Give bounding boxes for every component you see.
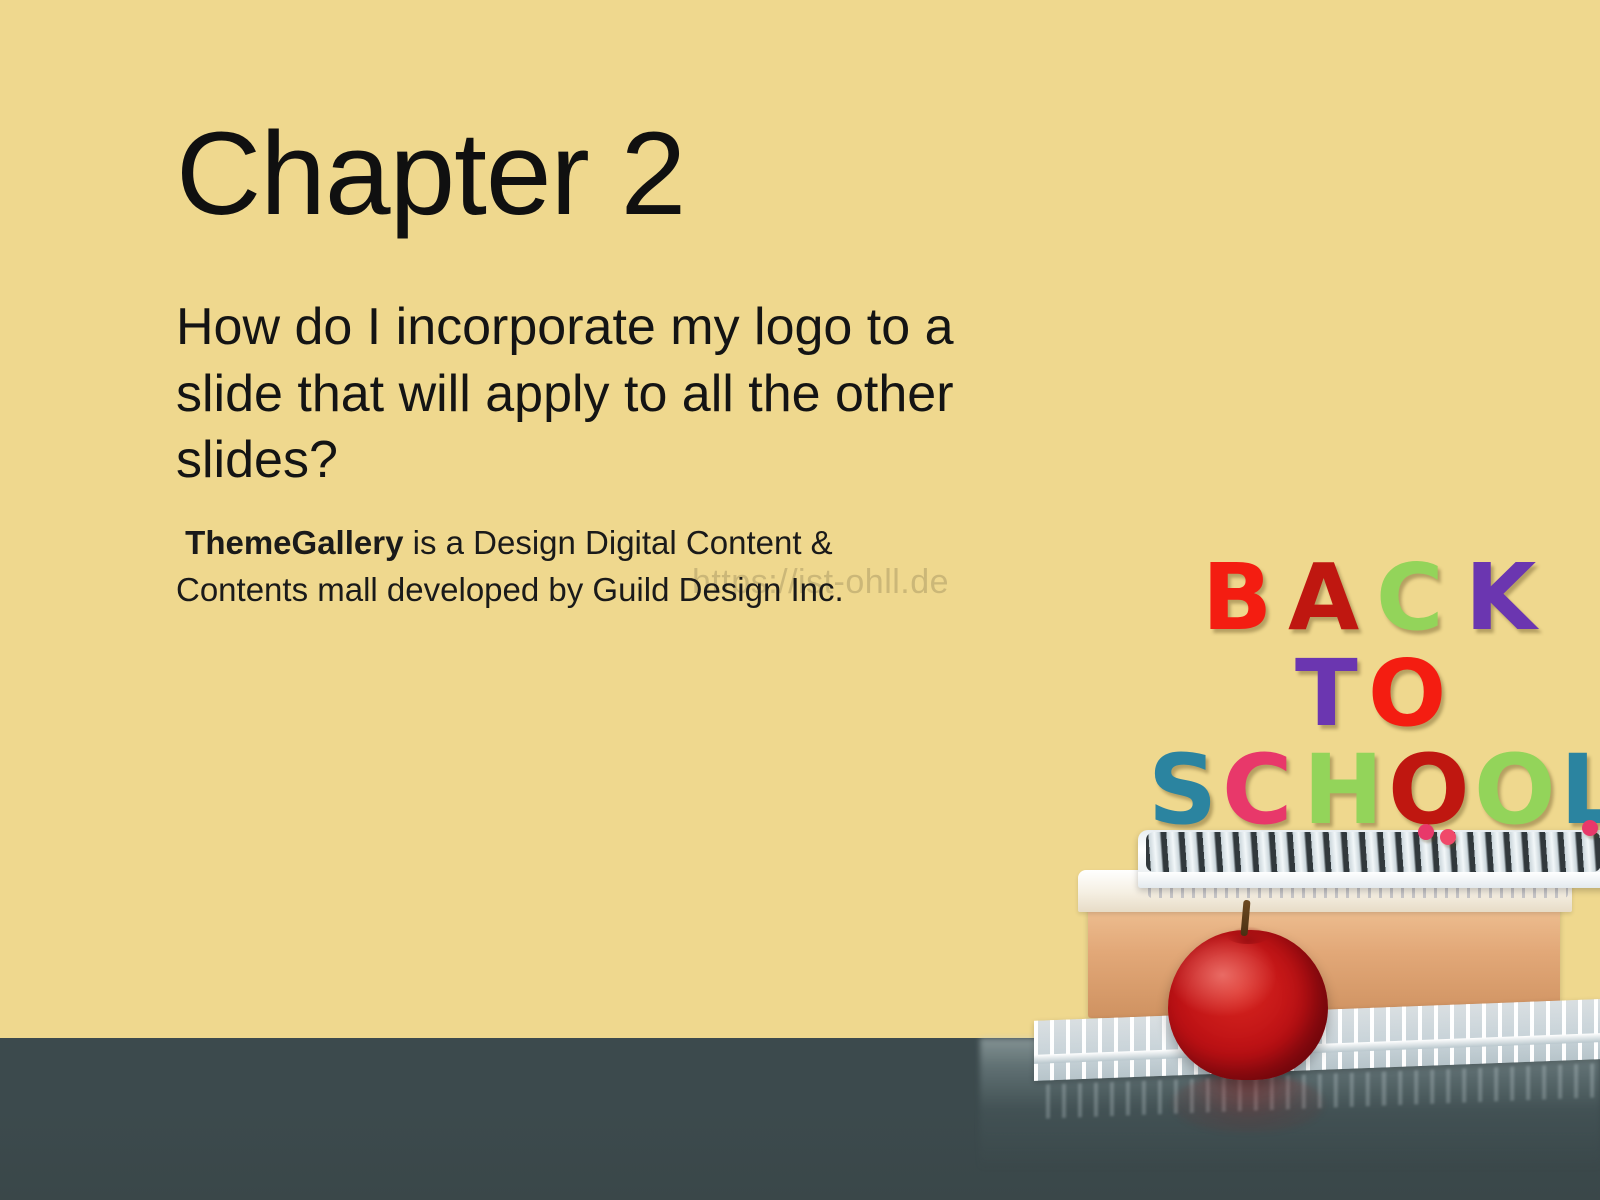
back-to-school-photo [1020,812,1600,1112]
apple-reflection [1172,1074,1324,1132]
presentation-slide: B A C K T O S C H O O L Chapter 2 How do… [0,0,1600,1200]
red-apple [1168,930,1328,1080]
body-lead-emphasis: ThemeGallery [185,524,403,561]
spiral-binding-icon [1146,832,1600,872]
slide-body-text: ThemeGallery is a Design Digital Content… [176,520,966,614]
spiral-notebook [1138,830,1600,888]
page-title: Chapter 2 [176,112,685,237]
notebook-sheet [1138,872,1600,888]
slide-subtitle: How do I incorporate my logo to a slide … [176,294,1006,494]
